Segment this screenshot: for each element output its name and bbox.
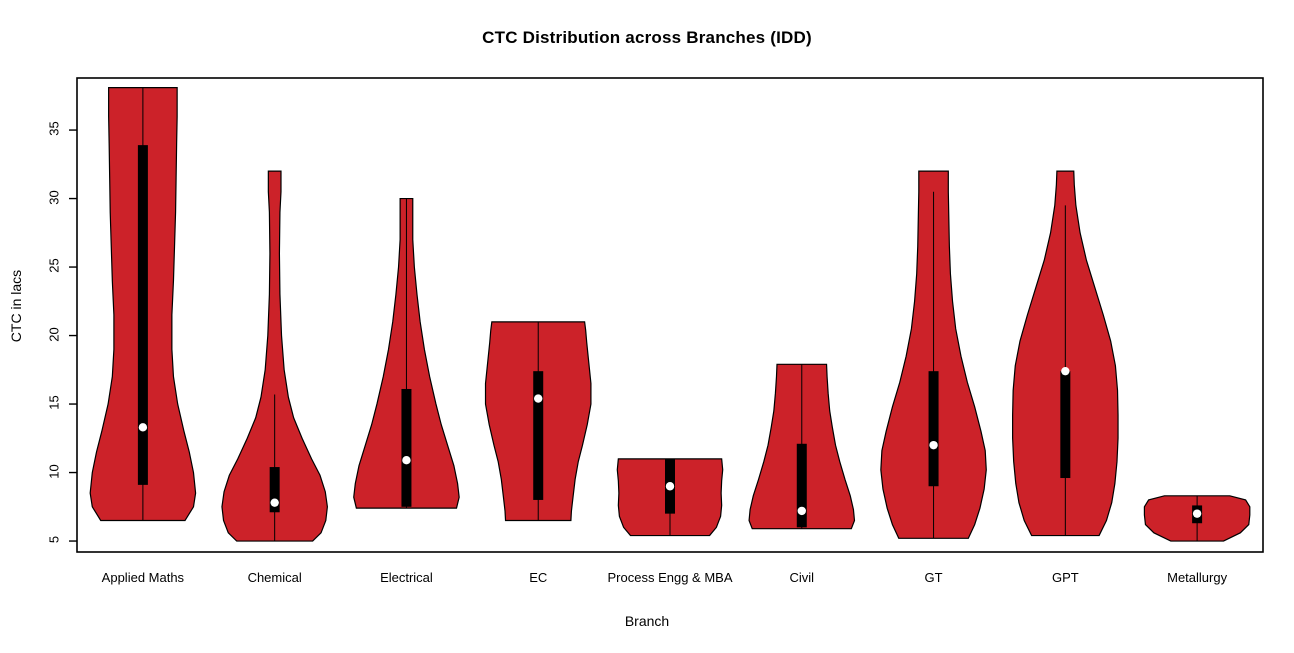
violin-gt: [881, 171, 986, 538]
median-marker: [534, 394, 542, 402]
median-marker: [798, 507, 806, 515]
y-axis-tick-label: 30: [47, 182, 62, 212]
y-axis-tick-label: 35: [47, 114, 62, 144]
violin-civil: [749, 364, 854, 528]
y-axis-tick-label: 10: [47, 456, 62, 486]
median-marker: [929, 441, 937, 449]
violin-plot: CTC Distribution across Branches (IDD) C…: [0, 0, 1294, 653]
y-axis-tick-label: 20: [47, 319, 62, 349]
iqr-box: [533, 371, 543, 500]
violin-gpt: [1013, 171, 1118, 535]
x-axis-tick-label: Chemical: [248, 570, 302, 585]
plot-canvas: [0, 0, 1294, 653]
median-marker: [1061, 367, 1069, 375]
iqr-box: [401, 389, 411, 507]
y-axis-tick-label: 15: [47, 388, 62, 418]
violin-applied-maths: [90, 88, 195, 521]
violin-electrical: [354, 199, 459, 509]
iqr-box: [929, 371, 939, 486]
y-axis-tick-label: 5: [47, 525, 62, 555]
violin-process-engg-mba: [617, 459, 722, 536]
x-axis-tick-label: GT: [925, 570, 943, 585]
median-marker: [402, 456, 410, 464]
x-axis-tick-label: Electrical: [380, 570, 433, 585]
median-marker: [270, 498, 278, 506]
median-marker: [666, 482, 674, 490]
iqr-box: [1060, 371, 1070, 478]
iqr-box: [138, 145, 148, 485]
median-marker: [1193, 509, 1201, 517]
violin-metallurgy: [1144, 496, 1249, 541]
x-axis-tick-label: GPT: [1052, 570, 1079, 585]
x-axis-tick-label: Applied Maths: [102, 570, 184, 585]
violin-chemical: [222, 171, 327, 541]
x-axis-tick-label: Civil: [789, 570, 814, 585]
x-axis-tick-label: Metallurgy: [1167, 570, 1227, 585]
violin-ec: [486, 322, 591, 521]
x-axis-tick-label: EC: [529, 570, 547, 585]
y-axis-tick-label: 25: [47, 251, 62, 281]
x-axis-tick-label: Process Engg & MBA: [608, 570, 733, 585]
median-marker: [139, 423, 147, 431]
